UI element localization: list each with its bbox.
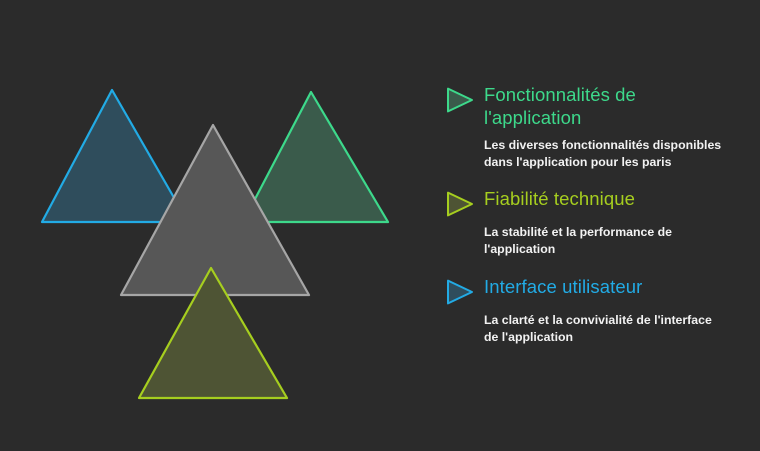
legend-list: Fonctionnalités de l'application Les div… <box>446 84 746 361</box>
slide-canvas: Fonctionnalités de l'application Les div… <box>0 0 760 451</box>
legend-description: La stabilité et la performance de l'appl… <box>484 224 724 259</box>
legend-description: La clarté et la convivialité de l'interf… <box>484 312 724 347</box>
legend-title: Fonctionnalités de l'application <box>484 84 636 130</box>
triangle-blue <box>42 90 188 222</box>
legend-description: Les diverses fonctionnalités disponibles… <box>484 137 724 172</box>
legend-item-fonctionnalites[interactable]: Fonctionnalités de l'application Les div… <box>446 84 746 172</box>
play-triangle-icon <box>446 191 474 217</box>
legend-item-fiabilite[interactable]: Fiabilité technique La stabilité et la p… <box>446 188 746 259</box>
legend-title: Fiabilité technique <box>484 188 635 211</box>
play-triangle-icon <box>446 279 474 305</box>
legend-head: Fiabilité technique <box>446 188 746 217</box>
legend-item-interface[interactable]: Interface utilisateur La clarté et la co… <box>446 276 746 347</box>
triangles-diagram <box>0 0 430 451</box>
legend-head: Fonctionnalités de l'application <box>446 84 746 130</box>
legend-head: Interface utilisateur <box>446 276 746 305</box>
triangle-green <box>243 92 388 222</box>
play-triangle-icon <box>446 87 474 113</box>
legend-title: Interface utilisateur <box>484 276 642 299</box>
